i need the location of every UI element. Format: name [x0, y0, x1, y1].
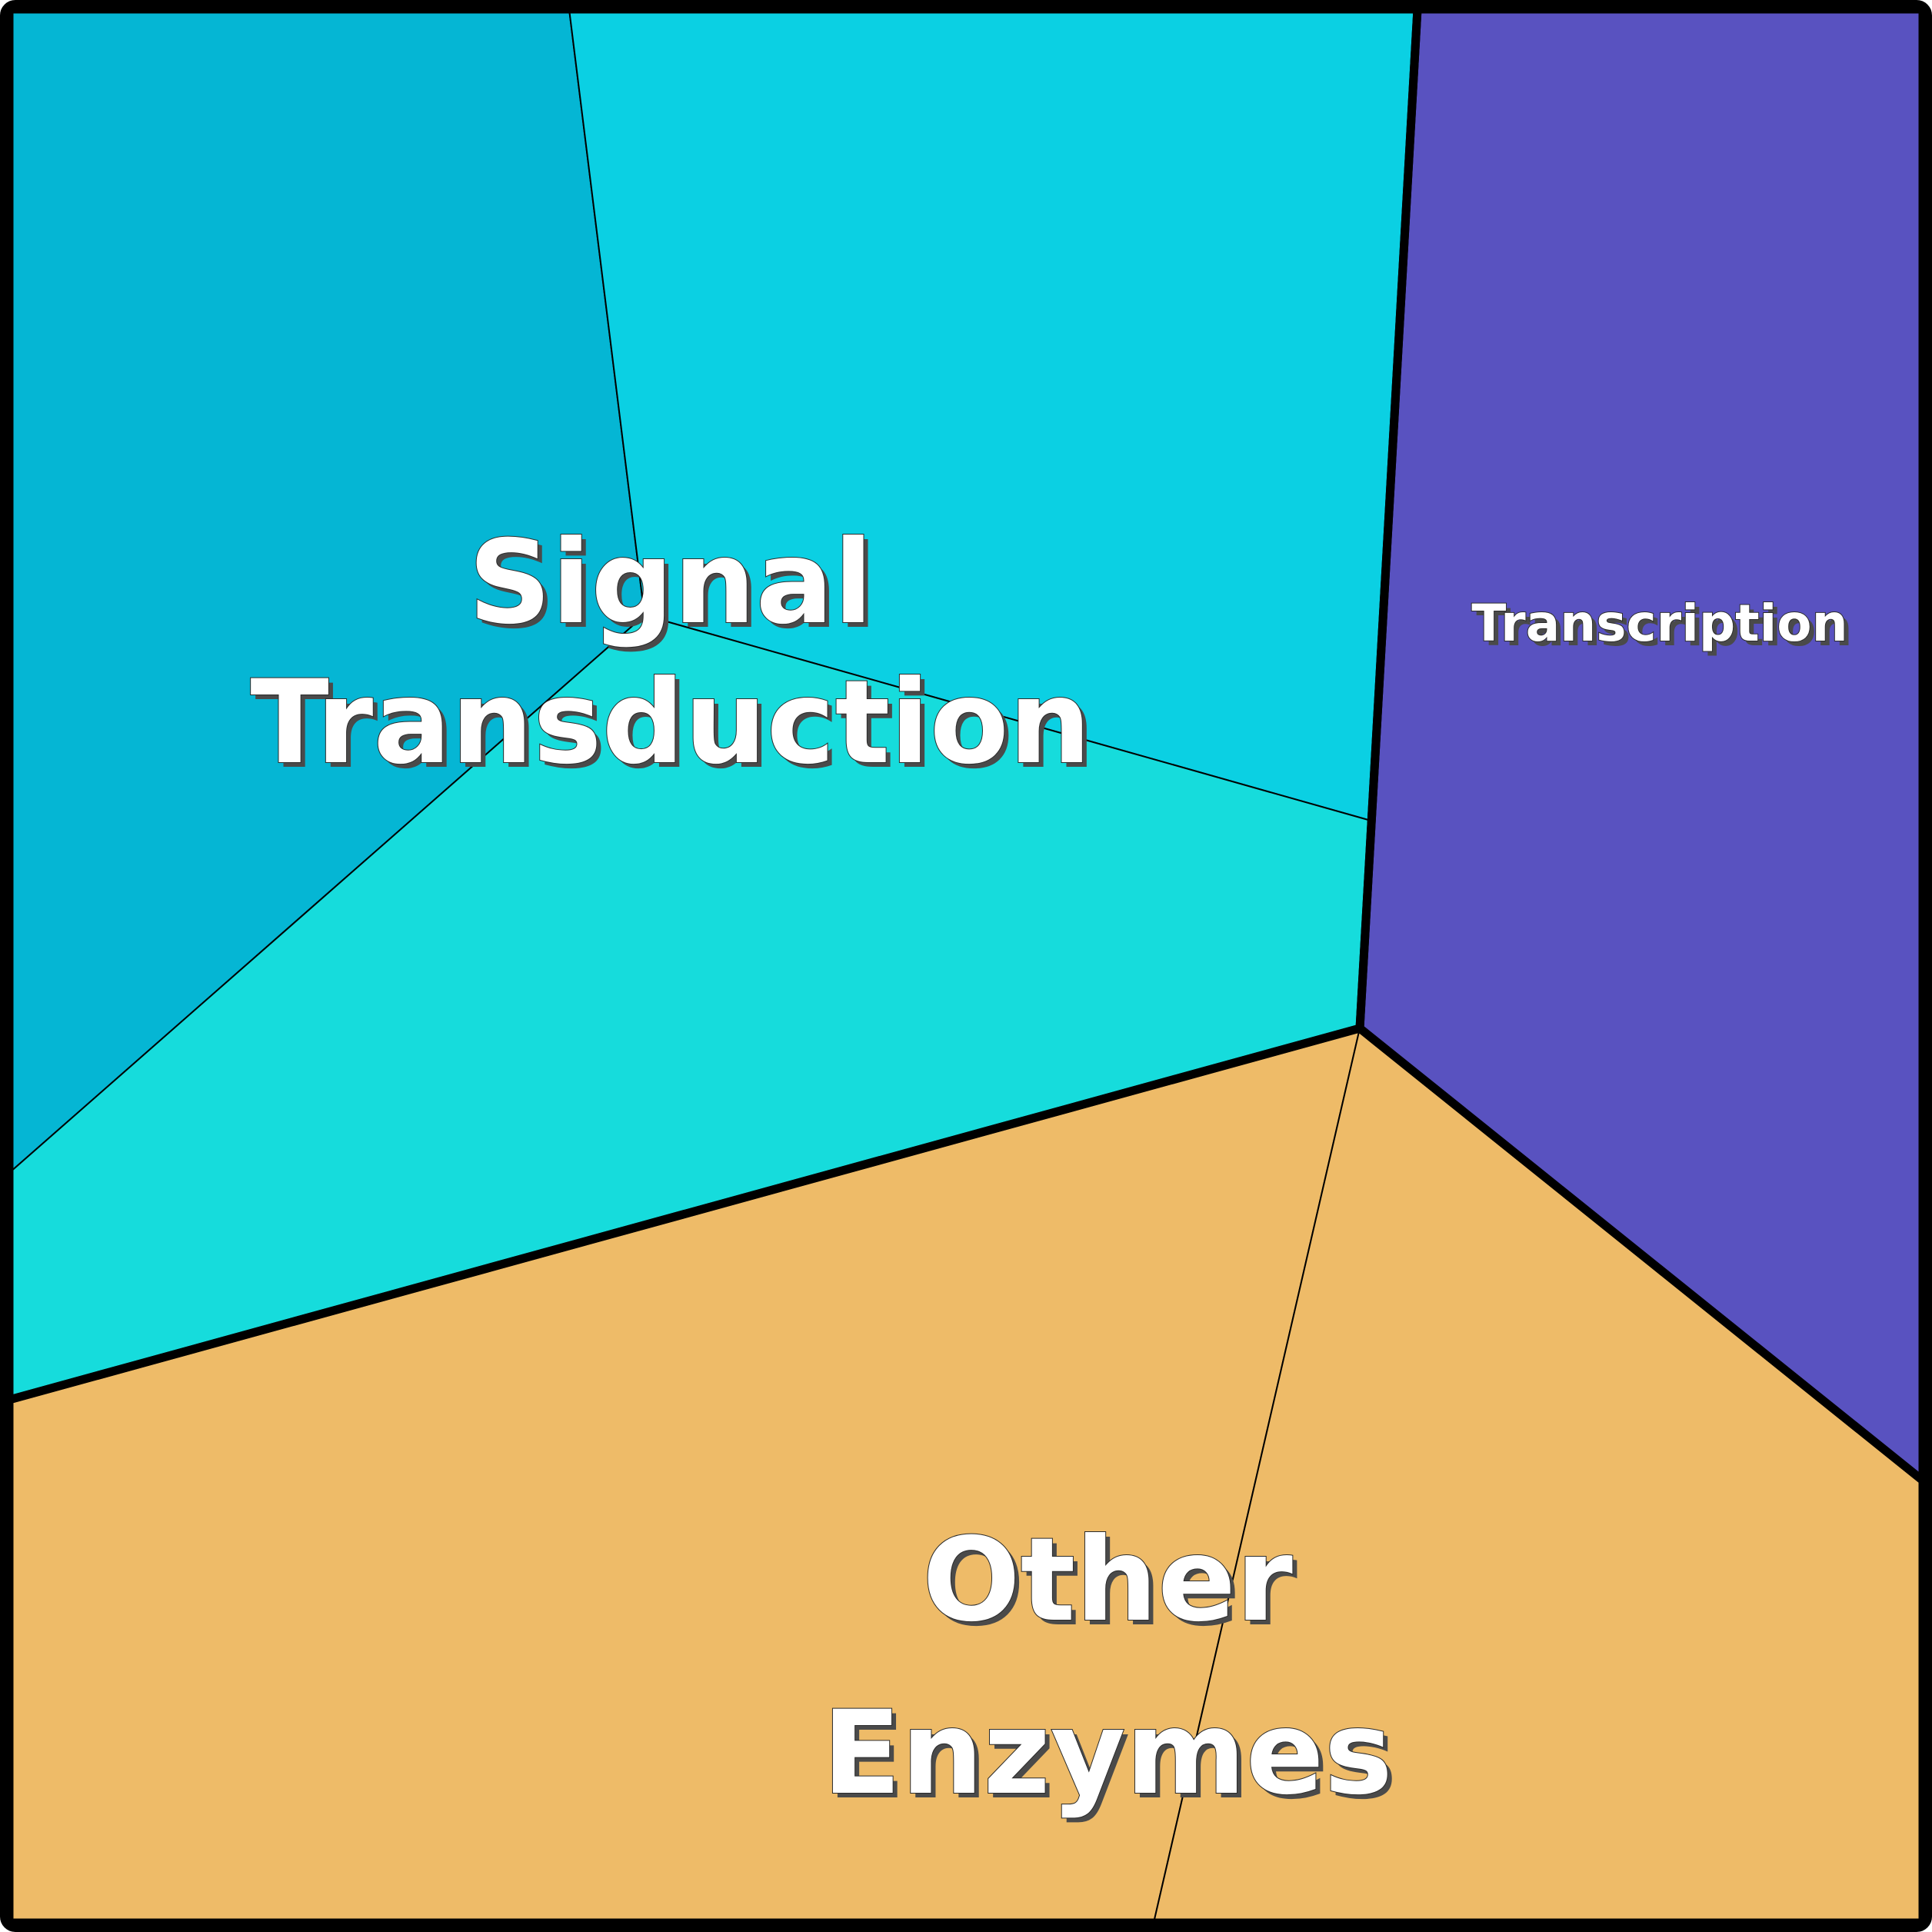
voronoi-treemap-canvas: Signal Signal Transduction Transduction … — [0, 0, 1932, 1932]
transcription-label: Transcription — [1471, 594, 1847, 653]
signal-transduction-label-line2: Transduction — [250, 656, 1091, 790]
other-enzymes-label-line1: Other — [922, 1514, 1293, 1647]
voronoi-treemap-figure: Signal Signal Transduction Transduction … — [0, 0, 1932, 1932]
label-transcription[interactable]: Transcription Transcription — [1471, 594, 1852, 658]
signal-transduction-label-line1: Signal — [468, 516, 873, 650]
other-enzymes-label-line2: Enzymes — [822, 1687, 1393, 1820]
